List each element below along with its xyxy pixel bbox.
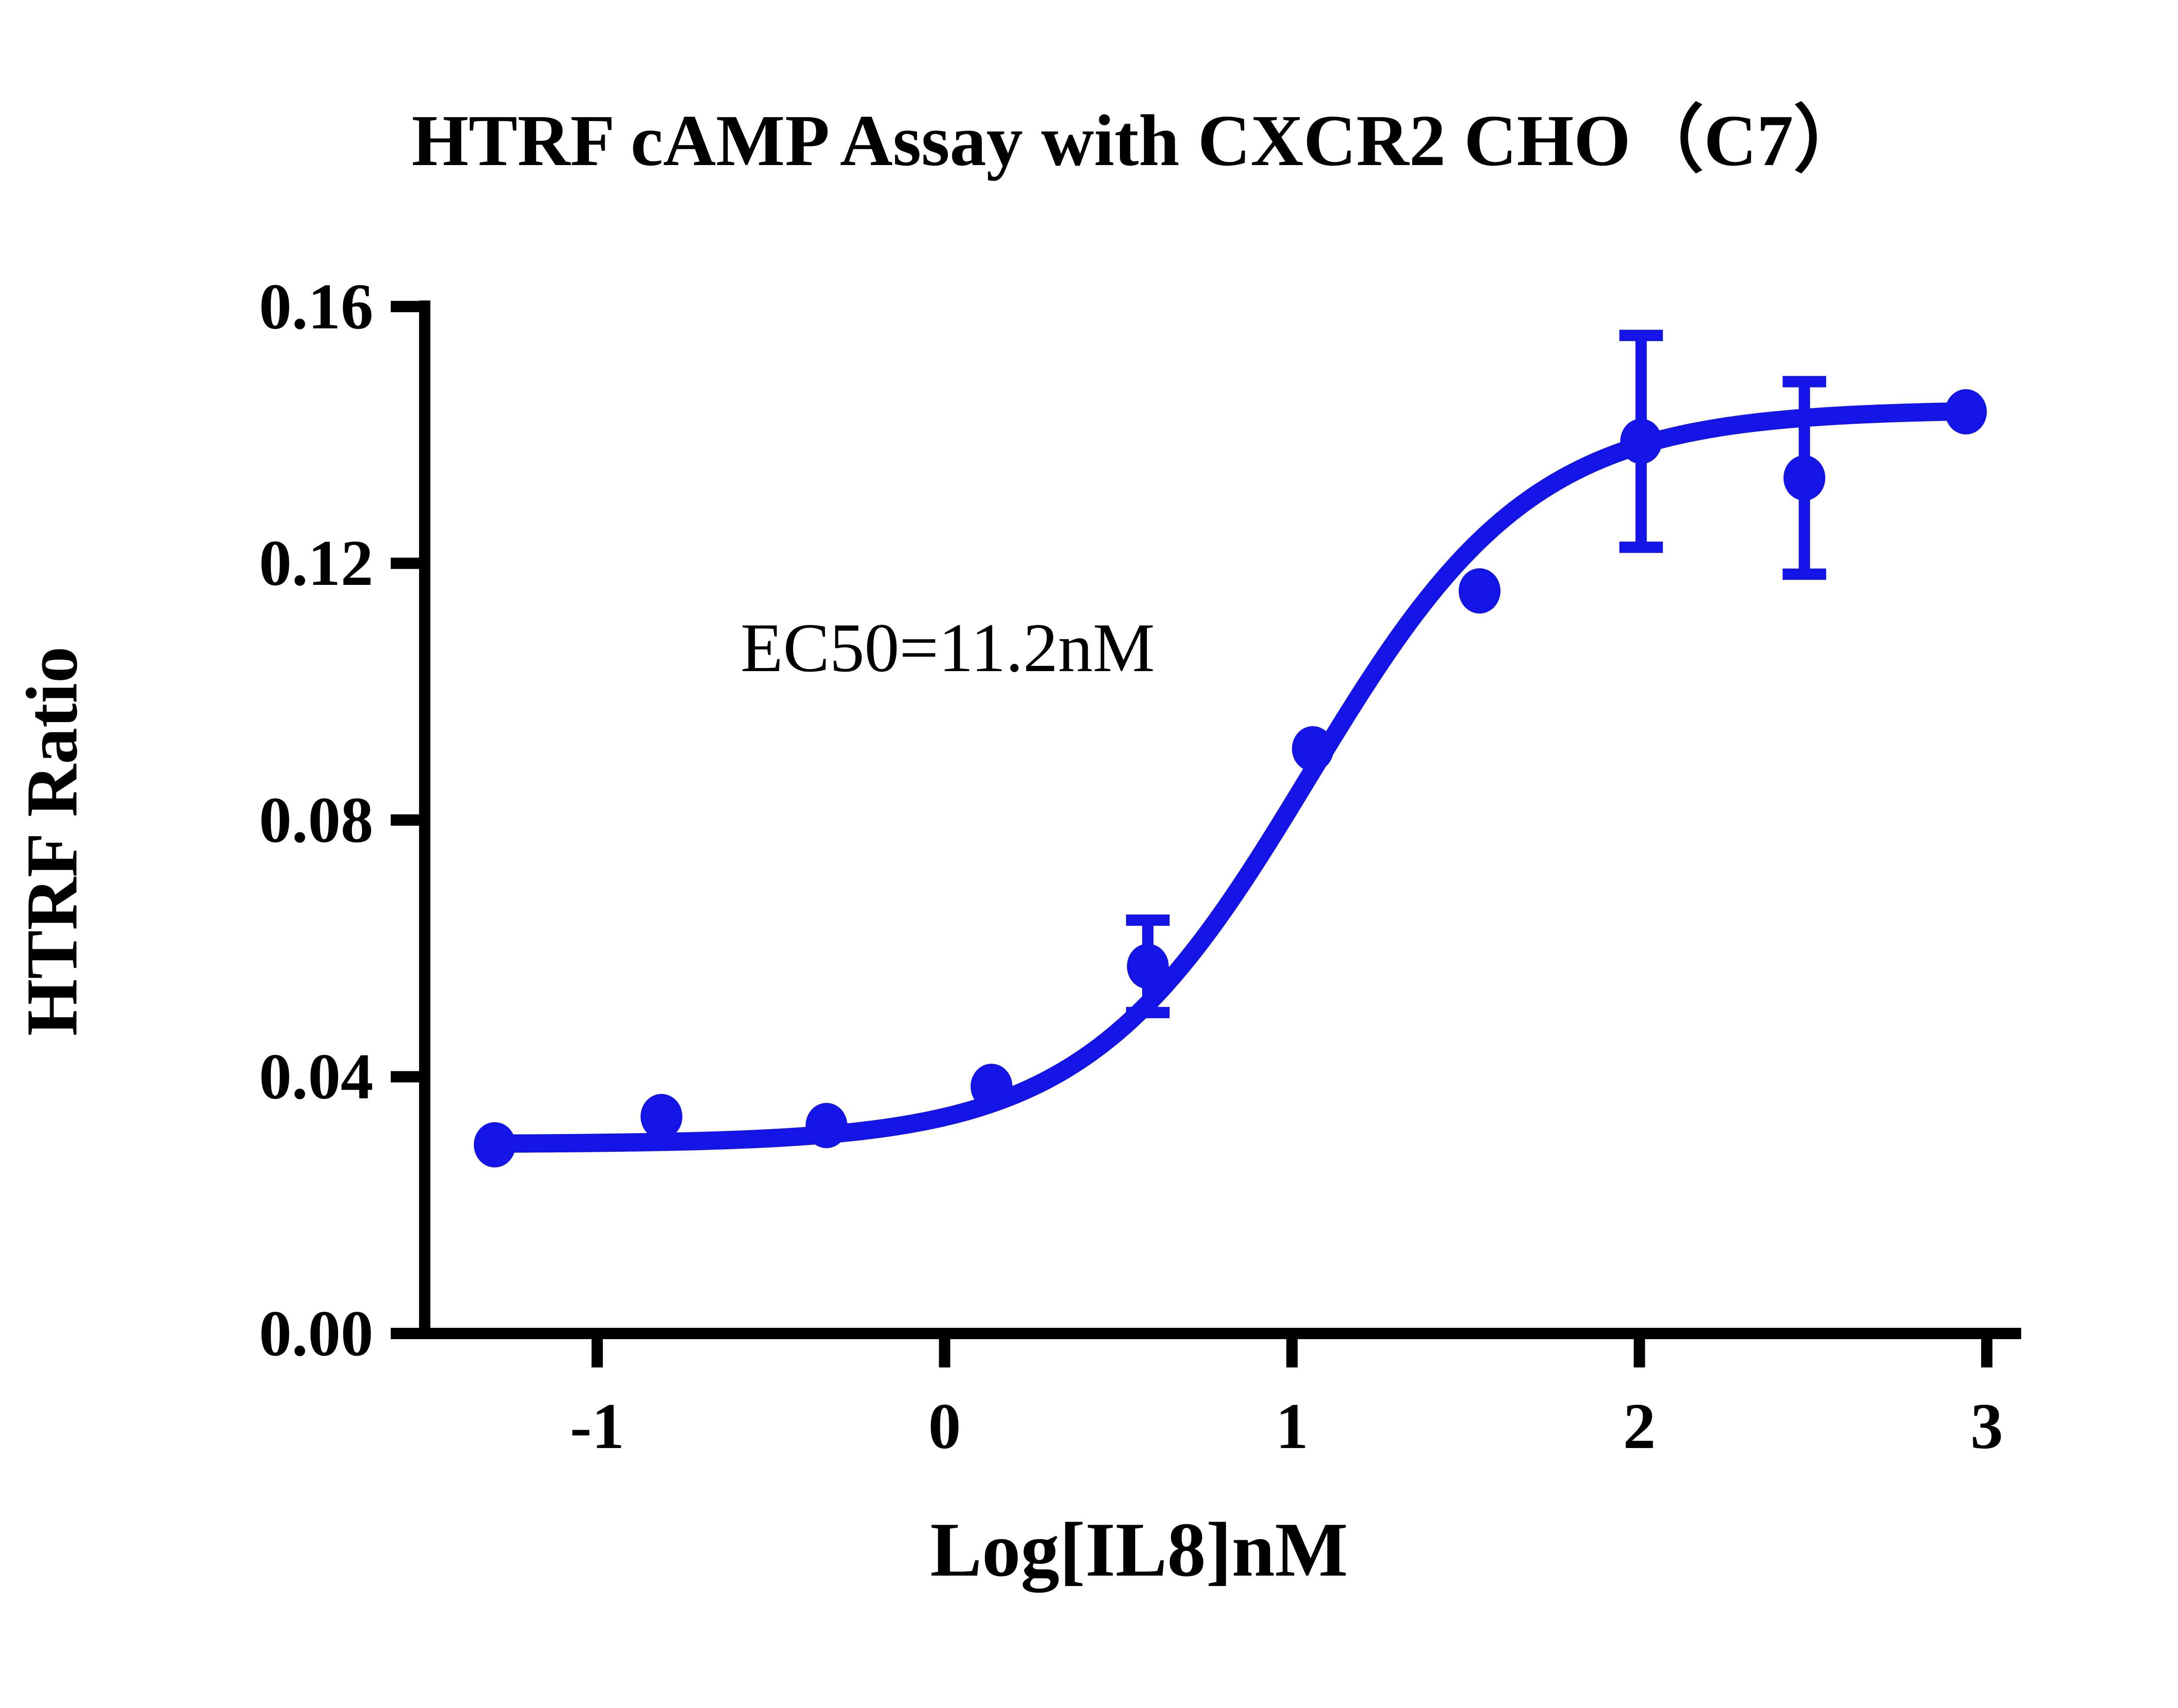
axes-group [391,300,2021,1367]
fit-curve [495,411,1966,1144]
x-tick-label-2: 1 [1276,1394,1309,1459]
data-point-8 [1783,455,1825,500]
data-point-2 [805,1103,847,1148]
fit-curve-group [495,411,1966,1144]
data-point-3 [971,1064,1012,1109]
data-point-0 [474,1122,516,1168]
x-tick-label-4: 3 [1971,1394,2003,1459]
data-point-6 [1459,568,1501,614]
x-axis-title: Log[IL8]nM [0,1505,2178,1594]
chart-figure: HTRF cAMP Assay with CXCR2 CHO（C7） EC50=… [0,0,2178,1708]
y-tick-label-1: 0.04 [113,1044,373,1109]
x-tick-label-1: 0 [928,1394,961,1459]
y-tick-label-2: 0.08 [113,787,373,853]
data-point-1 [641,1094,683,1139]
data-point-9 [1945,389,1987,435]
y-tick-label-4: 0.16 [113,274,373,339]
y-tick-label-3: 0.12 [113,530,373,596]
data-point-4 [1127,944,1169,989]
data-point-5 [1292,726,1334,771]
y-axis-title: HTRF Ratio [10,602,95,1081]
data-point-7 [1620,419,1662,464]
y-tick-label-0: 0.00 [113,1301,373,1366]
x-tick-label-0: -1 [570,1394,625,1459]
x-tick-label-3: 2 [1623,1394,1656,1459]
data-points-group [474,389,1987,1168]
